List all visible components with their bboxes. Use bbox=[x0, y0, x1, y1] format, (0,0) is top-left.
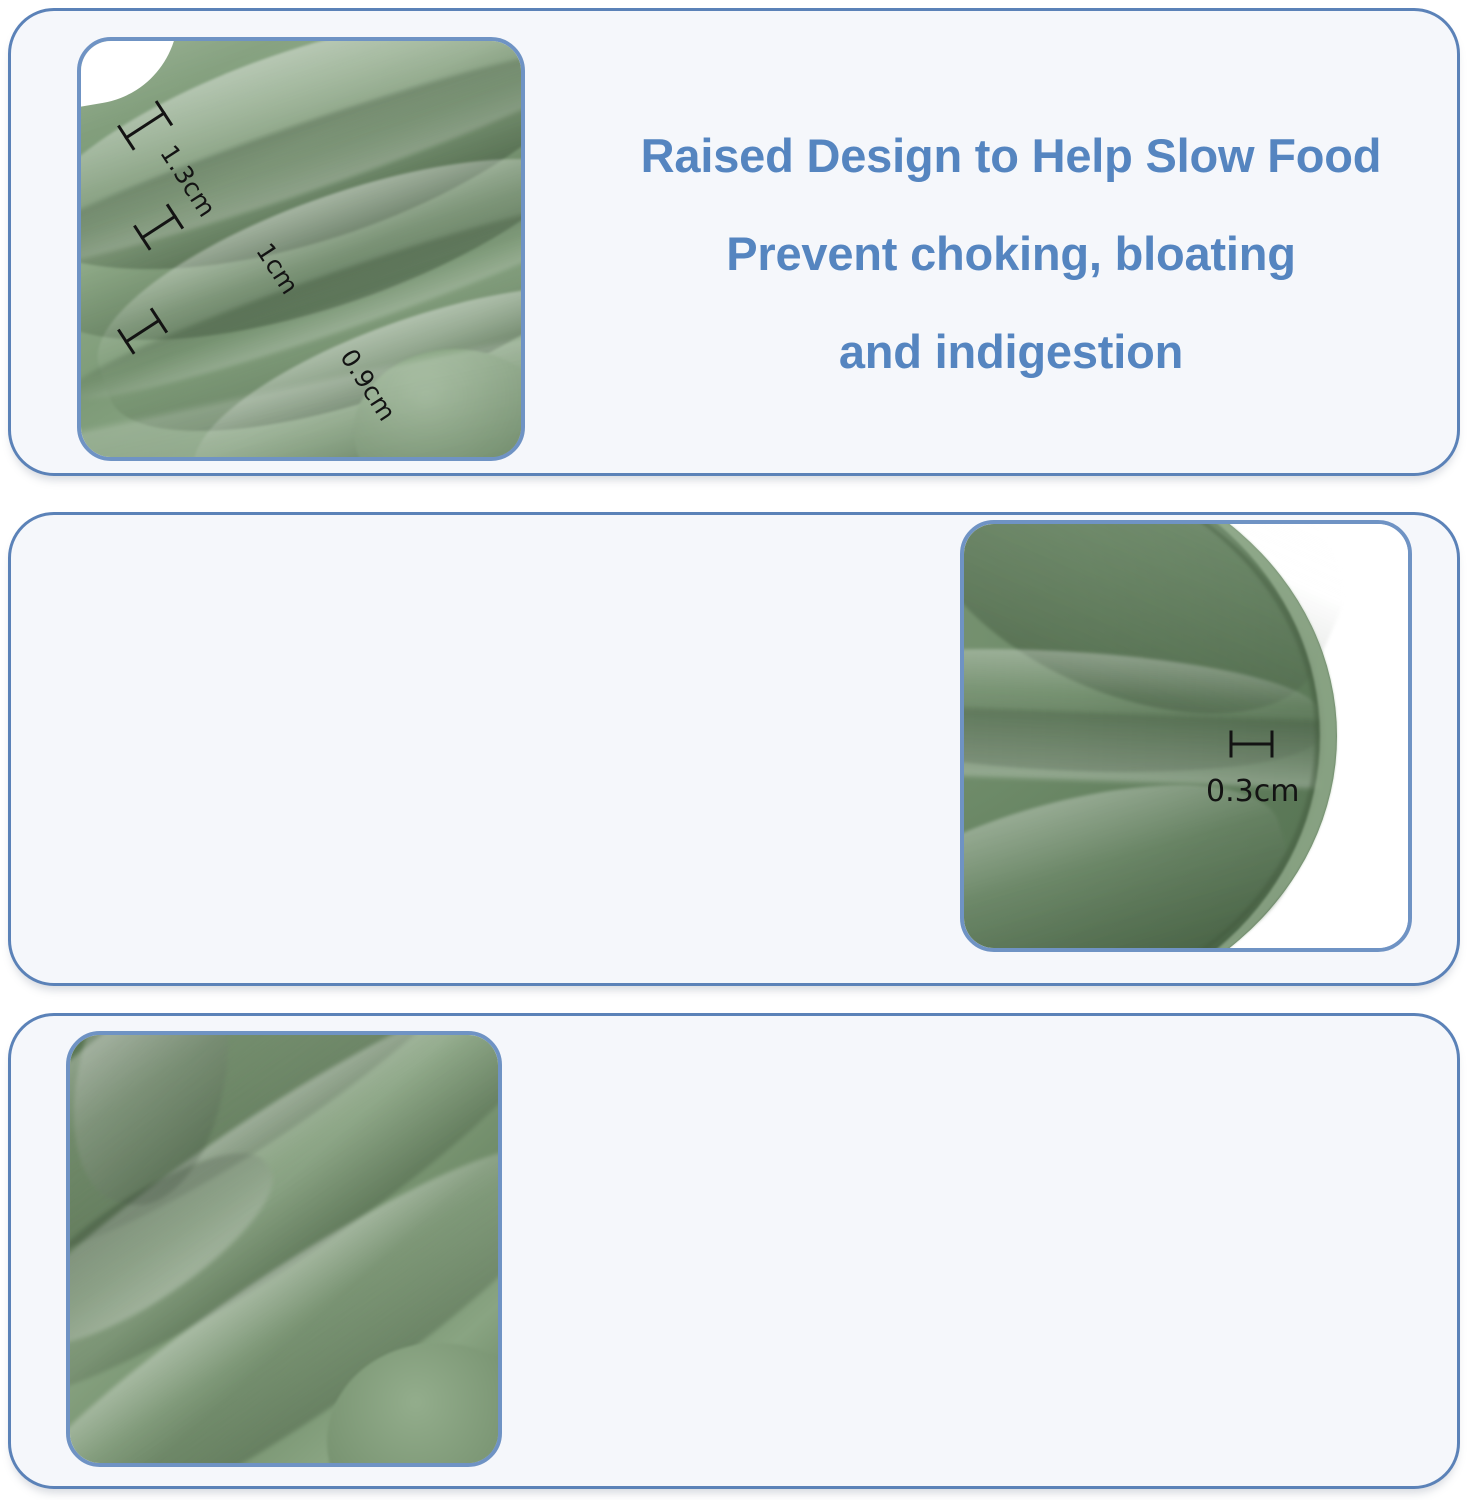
feature-card-raised-design: 1.3cm 1cm 0.9cm Raised Design to Help Sl… bbox=[8, 8, 1460, 476]
photo-inner-1: 1.3cm 1cm 0.9cm bbox=[81, 41, 521, 457]
photo-inner-3 bbox=[70, 1035, 498, 1463]
measure-mark-0-3cm-icon bbox=[1230, 743, 1274, 746]
dimension-label-0-3cm: 0.3cm bbox=[1206, 774, 1299, 809]
feature-subline: Prevent choking, bloating bbox=[571, 205, 1451, 303]
feature-subline: and indigestion bbox=[571, 303, 1451, 401]
product-photo-raised-ridges: 1.3cm 1cm 0.9cm bbox=[77, 37, 525, 461]
product-photo-rounded-edges bbox=[66, 1031, 502, 1467]
bowl-rim-highlight bbox=[964, 524, 1337, 948]
product-photo-wall-thickness: 0.3cm bbox=[960, 520, 1412, 952]
photo-inner-2: 0.3cm bbox=[964, 524, 1408, 948]
feature-heading-line: Raised Design to Help Slow Food bbox=[571, 107, 1451, 205]
feature-text-raised-design: Raised Design to Help Slow Food Prevent … bbox=[571, 107, 1451, 401]
